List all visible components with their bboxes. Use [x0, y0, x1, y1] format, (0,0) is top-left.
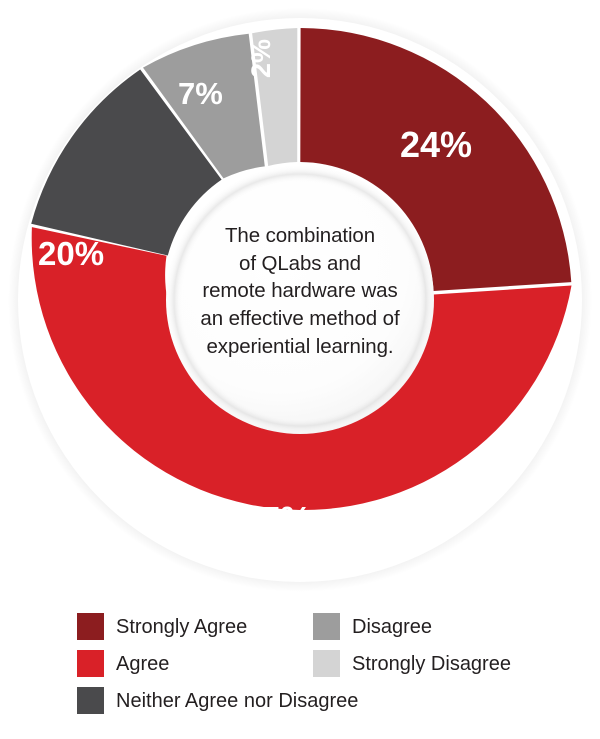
donut-chart-figure: 24% 47% 20% 7% 2% The combination of QLa… [0, 0, 600, 739]
legend-swatch-neither [77, 687, 104, 714]
center-caption-line-4: an effective method of [168, 305, 432, 333]
legend-label-agree: Agree [116, 654, 169, 674]
legend-label-strongly-agree: Strongly Agree [116, 617, 247, 637]
legend-swatch-strongly-disagree [313, 650, 340, 677]
legend-item-strongly-disagree[interactable]: Strongly Disagree [313, 650, 511, 677]
center-caption-line-3: remote hardware was [168, 277, 432, 305]
center-caption-line-2: of QLabs and [168, 250, 432, 278]
legend-label-strongly-disagree: Strongly Disagree [352, 654, 511, 674]
legend-swatch-strongly-agree [77, 613, 104, 640]
legend-item-strongly-agree[interactable]: Strongly Agree [77, 613, 247, 640]
legend-item-neither[interactable]: Neither Agree nor Disagree [77, 687, 358, 714]
donut-center-caption: The combination of QLabs and remote hard… [168, 222, 432, 360]
legend-label-disagree: Disagree [352, 617, 432, 637]
center-caption-line-1: The combination [168, 222, 432, 250]
legend-item-disagree[interactable]: Disagree [313, 613, 432, 640]
donut-chart-area: 24% 47% 20% 7% 2% The combination of QLa… [0, 0, 600, 600]
center-caption-line-5: experiential learning. [168, 333, 432, 361]
legend-swatch-agree [77, 650, 104, 677]
legend-item-agree[interactable]: Agree [77, 650, 169, 677]
legend-swatch-disagree [313, 613, 340, 640]
chart-legend: Strongly Agree Agree Neither Agree nor D… [0, 600, 600, 739]
legend-label-neither: Neither Agree nor Disagree [116, 691, 358, 711]
